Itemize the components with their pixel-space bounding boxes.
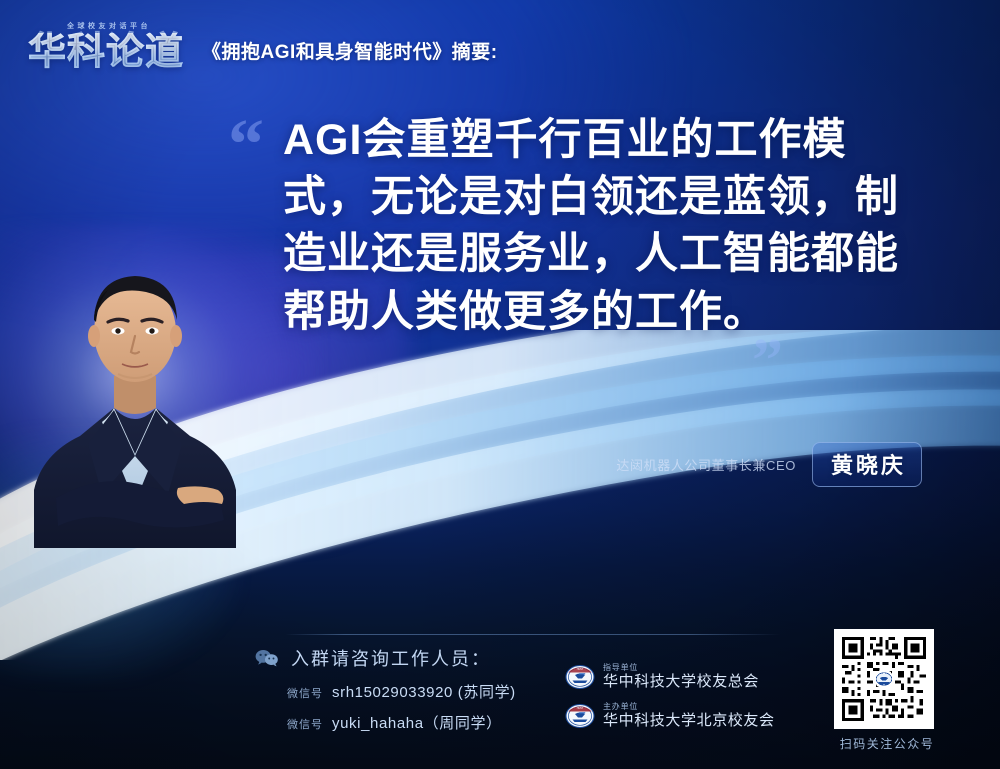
svg-text:HUST: HUST (577, 707, 584, 710)
quote-text: AGI会重塑千行百业的工作模 式，无论是对白领还是蓝领，制 造业还是服务业，人工… (283, 112, 943, 341)
organization-row: HUST 指导单位 华中科技大学校友总会 (565, 662, 775, 692)
contact-label: 微信号 (287, 685, 323, 701)
organization-name: 华中科技大学北京校友会 (603, 712, 775, 729)
brand-logo[interactable]: 全球校友对话平台 华科论道 (28, 21, 184, 71)
qr-block: 扫码关注公众号 (834, 629, 940, 752)
contact-label: 微信号 (287, 716, 323, 732)
organization-kind: 指导单位 (603, 663, 759, 672)
organization-text: 指导单位 华中科技大学校友总会 (603, 663, 759, 690)
quote-line: AGI会重塑千行百业的工作模 (283, 112, 943, 169)
quote-close-mark: ” (752, 330, 783, 392)
footer-title: 入群请咨询工作人员： (291, 645, 491, 671)
svg-text:HUST: HUST (577, 668, 584, 671)
quote-line: 造业还是服务业，人工智能都能 (283, 226, 943, 283)
university-seal-icon: HUST (565, 662, 595, 692)
organization-row: HUST 主办单位 华中科技大学北京校友会 (565, 701, 775, 731)
organization-text: 主办单位 华中科技大学北京校友会 (603, 702, 775, 729)
qr-code-image[interactable] (834, 629, 934, 729)
quote-line: 帮助人类做更多的工作。 (283, 284, 943, 341)
header: 全球校友对话平台 华科论道 《拥抱AGI和具身智能时代》摘要: (0, 0, 1000, 92)
qr-caption: 扫码关注公众号 (834, 735, 940, 752)
speaker-portrait (28, 258, 243, 548)
speaker-role: 达闼机器人公司董事长兼CEO (616, 455, 796, 474)
quote-line: 式，无论是对白领还是蓝领，制 (283, 169, 943, 226)
logo-wordmark: 华科论道 (28, 33, 184, 71)
contact-value[interactable]: yuki_hahaha（周同学） (332, 712, 502, 733)
organization-name: 华中科技大学校友总会 (603, 673, 759, 690)
organization-kind: 主办单位 (603, 702, 775, 711)
attribution: 达闼机器人公司董事长兼CEO 黄晓庆 (616, 442, 922, 487)
footer-divider (285, 634, 780, 635)
organization-list: HUST 指导单位 华中科技大学校友总会 HUST (565, 662, 775, 740)
contact-value[interactable]: srh15029033920 (苏同学) (332, 681, 516, 702)
poster-root: 全球校友对话平台 华科论道 《拥抱AGI和具身智能时代》摘要: “ AGI会重塑… (0, 0, 1000, 769)
university-seal-icon: HUST (565, 701, 595, 731)
logo-tagline: 全球校友对话平台 (67, 21, 151, 31)
wechat-icon (255, 649, 279, 667)
page-title: 《拥抱AGI和具身智能时代》摘要: (202, 37, 498, 64)
quote-open-mark: “ (228, 108, 264, 180)
speaker-name-badge: 黄晓庆 (812, 442, 922, 487)
